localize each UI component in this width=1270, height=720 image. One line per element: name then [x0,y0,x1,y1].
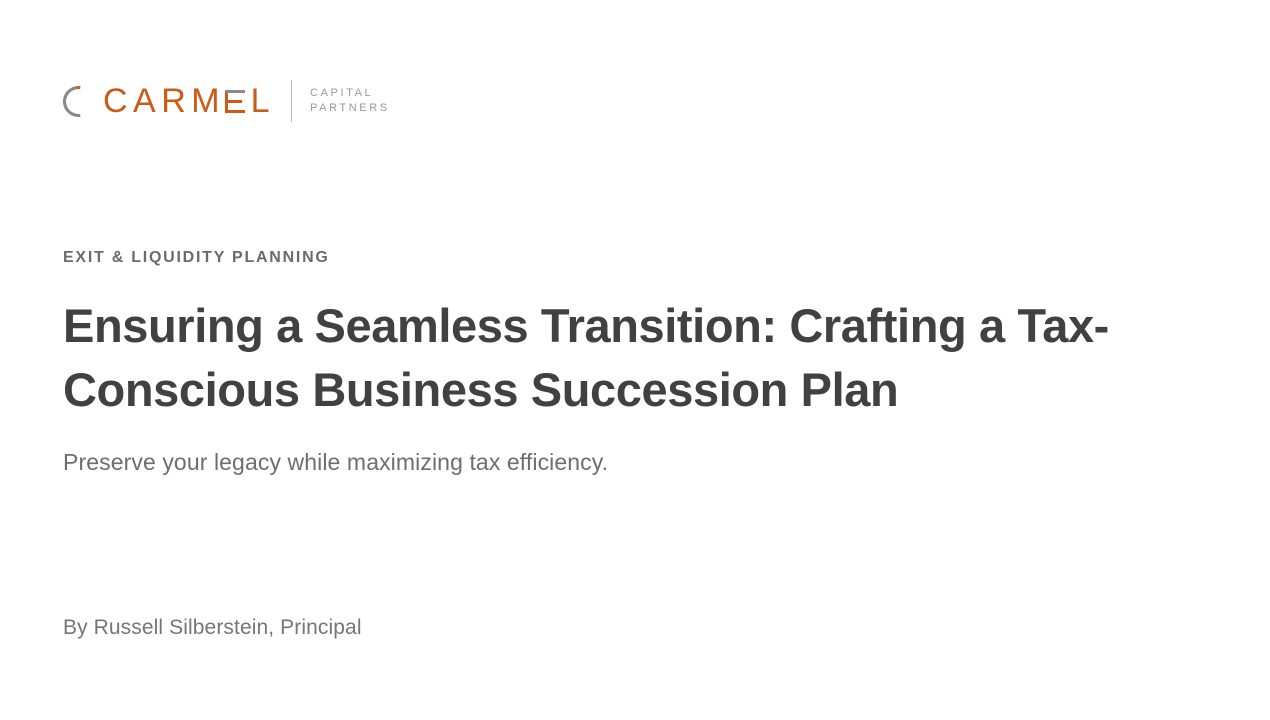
page-subtitle: Preserve your legacy while maximizing ta… [63,446,1203,478]
hero-content: EXIT & LIQUIDITY PLANNING Ensuring a Sea… [63,248,1203,478]
logo-divider [291,80,292,122]
brand-subtitle-line-2: PARTNERS [310,101,390,116]
brand-wordmark-letters: CARM L [103,85,275,117]
brand-subtitle: CAPITAL PARTNERS [310,86,390,116]
page-title: Ensuring a Seamless Transition: Crafting… [63,294,1178,422]
carmel-c-ring-icon [63,86,94,117]
category-eyebrow: EXIT & LIQUIDITY PLANNING [63,248,1203,268]
wordmark-text-pre: CARM [103,82,225,120]
wordmark-text-post: L [251,82,275,120]
brand-logo[interactable]: CARM L CAPITAL PARTNERS [63,78,390,124]
brand-subtitle-line-1: CAPITAL [310,86,390,101]
wordmark-letter-e-icon [225,90,245,113]
author-byline: By Russell Silberstein, Principal [63,613,362,643]
brand-wordmark: CARM L [63,85,275,117]
article-hero-page: CARM L CAPITAL PARTNERS EXIT & LIQUIDITY… [0,0,1270,720]
